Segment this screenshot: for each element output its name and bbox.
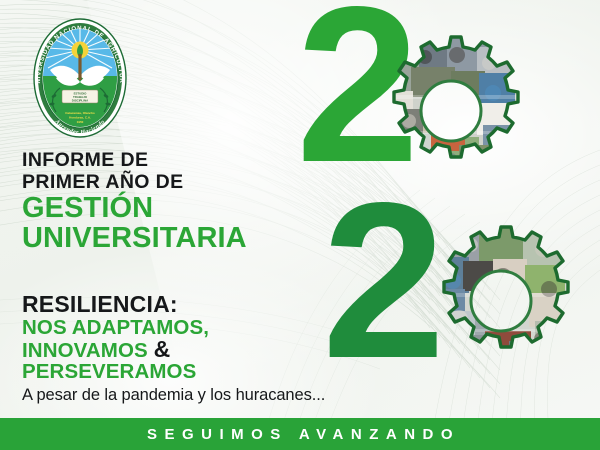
banner-text: SEGUIMOS AVANZANDO (140, 426, 460, 443)
university-seal-logo: UNIVERSIDAD NACIONAL DE AGRICULTURA Apre… (26, 14, 134, 142)
headline-block: INFORME DE PRIMER AÑO DE GESTIÓN UNIVERS… (22, 150, 247, 253)
headline-line-4: UNIVERSITARIA (22, 223, 247, 253)
svg-text:DISCIPLINA: DISCIPLINA (72, 99, 89, 103)
headline-line-3: GESTIÓN (22, 193, 247, 223)
gear-photo-collage-zero-top (373, 33, 529, 189)
resilience-line-2-text: INNOVAMOS (22, 339, 148, 362)
ampersand-glyph: & (154, 336, 171, 362)
svg-text:1950: 1950 (77, 120, 84, 124)
bottom-banner: SEGUIMOS AVANZANDO (0, 418, 600, 450)
resilience-block: RESILIENCIA: NOS ADAPTAMOS, INNOVAMOS & … (22, 292, 209, 383)
headline-line-2: PRIMER AÑO DE (22, 172, 247, 194)
resilience-line-1: NOS ADAPTAMOS, (22, 317, 209, 339)
resilience-subtitle: A pesar de la pandemia y los huracanes..… (22, 386, 325, 405)
poster-canvas: UNIVERSIDAD NACIONAL DE AGRICULTURA Apre… (0, 0, 600, 450)
resilience-line-3: PERSEVERAMOS (22, 361, 209, 383)
gear-photo-collage-zero-bottom (423, 223, 579, 379)
resilience-line-2: INNOVAMOS & (22, 339, 209, 362)
svg-text:Honduras, C.A.: Honduras, C.A. (69, 115, 91, 119)
headline-line-1: INFORME DE (22, 150, 247, 172)
svg-text:Catacamas, Olancho: Catacamas, Olancho (65, 111, 95, 115)
resilience-heading: RESILIENCIA: (22, 292, 209, 317)
